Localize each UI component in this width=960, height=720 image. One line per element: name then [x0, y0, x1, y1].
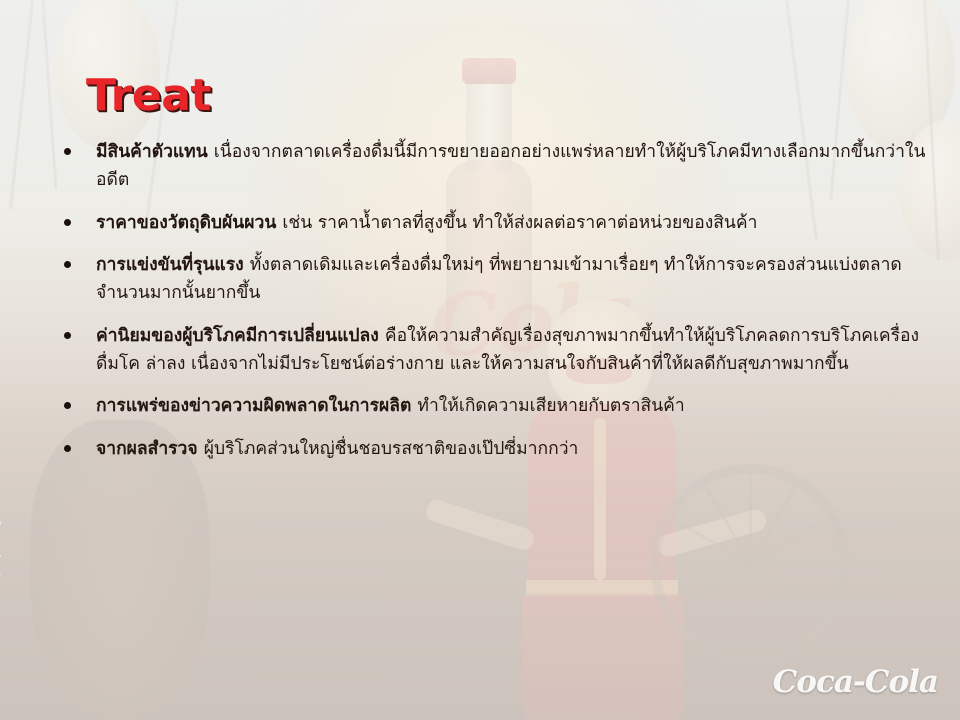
bullet-lead-text: มีสินค้าตัวแทน [96, 142, 214, 162]
bullet-point-icon [64, 402, 71, 409]
slide-title: Treat [86, 74, 211, 118]
bullet-point-icon [64, 445, 71, 452]
bullet-body-text: ทำให้เกิดความเสียหายกับตราสินค้า [417, 396, 684, 416]
bullet-point-icon [64, 332, 71, 339]
bullet-lead-text: ค่านิยมของผู้บริโภคมีการเปลี่ยนแปลง [96, 326, 385, 346]
bullet-item: ราคาของวัตถุดิบผันผวน เช่น ราคาน้ำตาลที่… [56, 209, 928, 237]
bullet-item: ค่านิยมของผู้บริโภคมีการเปลี่ยนแปลง คือใ… [56, 322, 928, 379]
bullet-lead-text: การแข่งขันที่รุนแรง [96, 255, 250, 275]
slide-content: Treat มีสินค้าตัวแทน เนื่องจากตลาดเครื่อ… [0, 0, 960, 720]
bullet-item: จากผลสำรวจ ผู้บริโภคส่วนใหญ่ชื่นชอบรสชาต… [56, 435, 928, 463]
presentation-slide: Cola Treat มีสินค [0, 0, 960, 720]
bullet-body-text: ผู้บริโภคส่วนใหญ่ชื่นชอบรสชาติของเป๊ปซี่… [204, 439, 579, 459]
bullet-lead-text: จากผลสำรวจ [96, 439, 204, 459]
bullet-lead-text: ราคาของวัตถุดิบผันผวน [96, 213, 282, 233]
bullet-point-icon [64, 219, 71, 226]
coca-cola-logo: Coca-Cola [773, 664, 938, 700]
copyright-notice: © 2006 The Coca-Cola Company. All rights… [0, 688, 2, 706]
bullet-point-icon [64, 148, 71, 155]
bullet-point-icon [64, 261, 71, 268]
bullet-body-text: เนื่องจากตลาดเครื่องดื่มนี้มีการขยายออกอ… [96, 142, 925, 190]
bullet-lead-text: การแพร่ของข่าวความผิดพลาดในการผลิต [96, 396, 417, 416]
bullet-item: การแข่งขันที่รุนแรง ทั้งตลาดเดิมและเครื่… [56, 251, 928, 308]
bullet-item: มีสินค้าตัวแทน เนื่องจากตลาดเครื่องดื่มน… [56, 138, 928, 195]
bullet-item: การแพร่ของข่าวความผิดพลาดในการผลิต ทำให้… [56, 392, 928, 420]
bullet-list: มีสินค้าตัวแทน เนื่องจากตลาดเครื่องดื่มน… [56, 138, 928, 477]
bullet-body-text: เช่น ราคาน้ำตาลที่สูงขึ้น ทำให้ส่งผลต่อร… [282, 213, 757, 233]
